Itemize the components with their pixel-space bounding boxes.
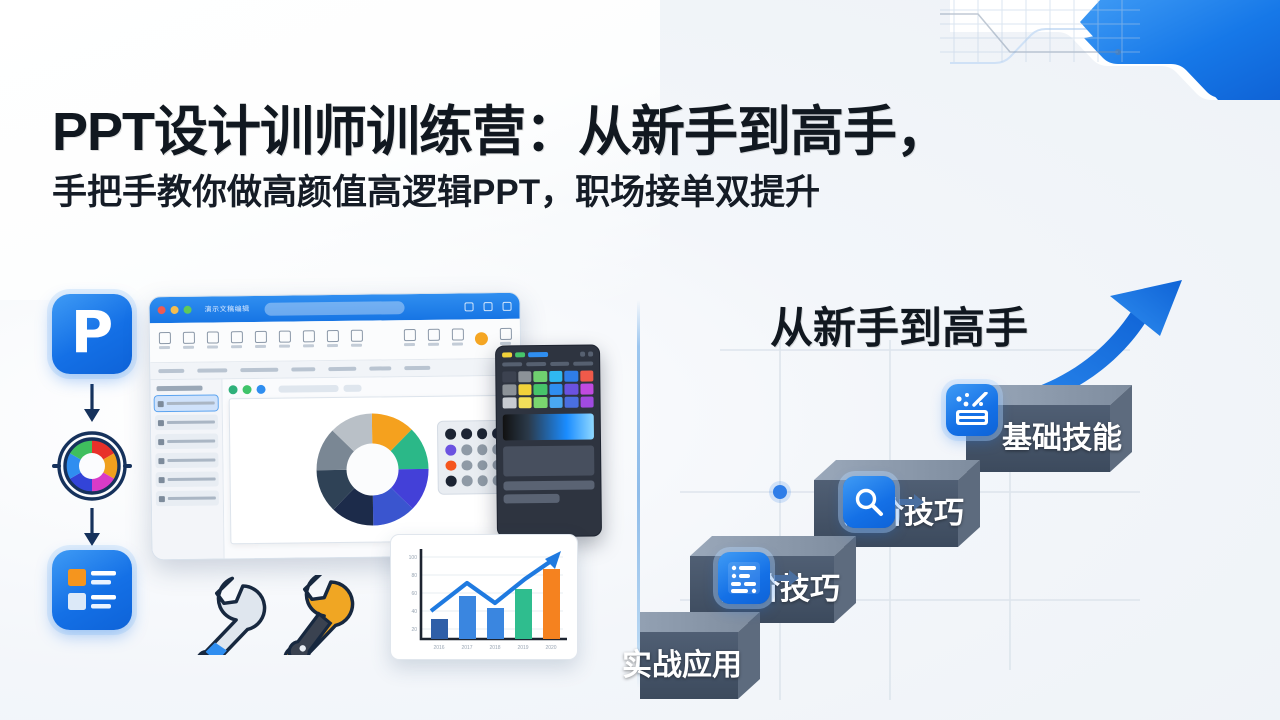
cloud-icon[interactable] [502, 301, 511, 310]
slide-thumbnail-item[interactable] [155, 433, 218, 449]
ppt-app-window[interactable]: 演示文稿编辑 [148, 292, 523, 561]
page-subtitle: 手把手教你做高颜值高逻辑PPT，职场接单双提升 [52, 173, 1242, 213]
right-panel: 从新手到高手 [640, 280, 1280, 720]
svg-text:100: 100 [409, 555, 418, 561]
swatch[interactable] [580, 397, 594, 408]
picker-swatch-grid[interactable] [502, 371, 593, 409]
corner-grid-pattern [940, 0, 1160, 62]
slide-thumbnail-panel[interactable] [150, 379, 224, 560]
picker-option-bar[interactable] [504, 494, 560, 504]
swatch[interactable] [533, 371, 547, 382]
toolbar-view-icon[interactable] [451, 328, 464, 350]
swatch[interactable] [518, 384, 532, 395]
picker-option-bar[interactable] [503, 481, 594, 491]
minimize-icon[interactable] [171, 306, 179, 314]
tools-illustration [168, 575, 358, 655]
swatch[interactable] [461, 444, 472, 455]
swatch[interactable] [580, 384, 594, 395]
swatch[interactable] [534, 397, 548, 408]
share-icon[interactable] [464, 302, 473, 311]
slide-layout-icon-wrap[interactable] [52, 550, 140, 638]
svg-text:2020: 2020 [545, 645, 556, 651]
swatch[interactable] [477, 475, 488, 486]
search-input[interactable] [264, 301, 404, 316]
powerpoint-p-icon: P [52, 294, 132, 374]
svg-text:40: 40 [411, 609, 417, 615]
slide-canvas-area[interactable] [222, 376, 522, 561]
user-icon[interactable] [483, 302, 492, 311]
swatch[interactable] [461, 460, 472, 471]
toolbar-image-icon[interactable] [302, 330, 315, 352]
search-icon[interactable] [843, 476, 895, 528]
toolbar-chart-icon[interactable] [326, 329, 339, 351]
page-title: PPT设计训师训练营：从新手到高手， [52, 104, 1242, 161]
swatch[interactable] [446, 476, 457, 487]
swatch[interactable] [565, 397, 579, 408]
list-form-icon[interactable] [718, 552, 770, 604]
swatch[interactable] [549, 397, 563, 408]
svg-text:60: 60 [411, 591, 417, 597]
tab-insert[interactable] [197, 368, 227, 372]
slide-layout-icon [52, 550, 132, 630]
right-arrow-icon [899, 492, 925, 512]
toolbar-shape-icon[interactable] [254, 330, 267, 352]
canvas-toolbar[interactable] [228, 382, 514, 394]
app-title: 演示文稿编辑 [205, 304, 250, 315]
tab-design[interactable] [240, 368, 278, 372]
powerpoint-letter: P [71, 303, 114, 361]
swatch[interactable] [477, 460, 488, 471]
down-arrow-icon [52, 382, 132, 426]
toolbar-table-icon[interactable] [350, 329, 363, 351]
toolbar-align-icon[interactable] [278, 330, 291, 352]
step-label-4: 基础技能 [1002, 413, 1122, 457]
swatch[interactable] [518, 397, 532, 408]
tab-animation[interactable] [328, 367, 356, 371]
close-icon[interactable] [158, 306, 166, 314]
color-wheel-target-icon[interactable] [52, 426, 132, 506]
svg-text:80: 80 [411, 573, 417, 579]
canvas-record-icon[interactable] [242, 385, 251, 394]
swatch[interactable] [502, 371, 516, 382]
right-arrow-icon [774, 568, 800, 588]
swatch[interactable] [445, 444, 456, 455]
toolbar-format-icon[interactable] [206, 331, 219, 353]
gradient-slider[interactable] [503, 414, 594, 441]
tab-slideshow[interactable] [369, 366, 391, 370]
donut-chart [306, 403, 440, 537]
toolbar-copy-icon[interactable] [182, 331, 195, 353]
toolbar-animation-icon[interactable] [403, 329, 416, 351]
powerpoint-icon-wrap[interactable]: P [52, 294, 140, 382]
tab-transition[interactable] [291, 367, 315, 371]
swatch[interactable] [564, 371, 578, 382]
step-label-1: 实战应用 [622, 640, 742, 684]
thumbnail-panel-title [157, 386, 203, 392]
swatch[interactable] [503, 397, 517, 408]
picker-labels [502, 362, 593, 367]
maximize-icon[interactable] [184, 306, 192, 314]
slide-thumbnail-item[interactable] [155, 395, 218, 411]
step-2-icon-group[interactable] [718, 552, 800, 604]
down-arrow-icon [52, 506, 132, 550]
color-picker-panel[interactable] [495, 344, 602, 537]
picker-tabs[interactable] [502, 352, 593, 358]
left-panel: P [0, 280, 637, 720]
swatch[interactable] [445, 429, 456, 440]
swatch[interactable] [477, 428, 488, 439]
wrench-blue-icon [172, 575, 282, 655]
workflow-icon-rail: P [52, 294, 152, 638]
swatch[interactable] [549, 371, 563, 382]
preview-block [503, 446, 594, 477]
canvas-grid-icon[interactable] [256, 385, 265, 394]
app-body [150, 376, 522, 561]
svg-text:2019: 2019 [517, 645, 528, 651]
tab-review[interactable] [404, 366, 430, 370]
slide-thumbnail-item[interactable] [156, 490, 219, 506]
app-ribbon-toolbar[interactable] [150, 319, 520, 364]
canvas-play-icon[interactable] [228, 385, 237, 394]
swatch[interactable] [477, 444, 488, 455]
svg-text:2016: 2016 [433, 645, 444, 651]
toolbar-transition-icon[interactable] [427, 328, 440, 350]
bar-chart-card: 1008060 4020 201620172018 20192020 [390, 534, 578, 660]
swatch[interactable] [518, 371, 532, 382]
swatch[interactable] [502, 384, 516, 395]
tab-home[interactable] [158, 369, 184, 373]
toolbar-highlight-icon[interactable] [475, 332, 488, 345]
svg-text:20: 20 [411, 627, 417, 633]
step-3-icon-group[interactable] [843, 476, 925, 528]
swatch[interactable] [533, 384, 547, 395]
headline-block: PPT设计训师训练营：从新手到高手， 手把手教你做高颜值高逻辑PPT，职场接单双… [52, 104, 1242, 213]
poster-canvas: PPT设计训师训练营：从新手到高手， 手把手教你做高颜值高逻辑PPT，职场接单双… [0, 0, 1280, 720]
slide-thumbnail-item[interactable] [155, 414, 218, 430]
swatch[interactable] [445, 460, 456, 471]
magic-wand-icon[interactable] [946, 384, 998, 436]
slide-thumbnail-item[interactable] [155, 452, 218, 468]
swatch[interactable] [564, 384, 578, 395]
bar-chart: 1008060 4020 201620172018 20192020 [391, 535, 579, 661]
svg-text:2018: 2018 [489, 645, 500, 651]
wrench-gold-icon [261, 575, 358, 655]
slide-thumbnail-item[interactable] [156, 471, 219, 487]
toolbar-font-icon[interactable] [230, 331, 243, 353]
swatch[interactable] [580, 371, 594, 382]
swatch[interactable] [461, 476, 472, 487]
swatch[interactable] [549, 384, 563, 395]
svg-text:2017: 2017 [461, 645, 472, 651]
swatch[interactable] [461, 428, 472, 439]
toolbar-paste-icon[interactable] [158, 332, 171, 354]
